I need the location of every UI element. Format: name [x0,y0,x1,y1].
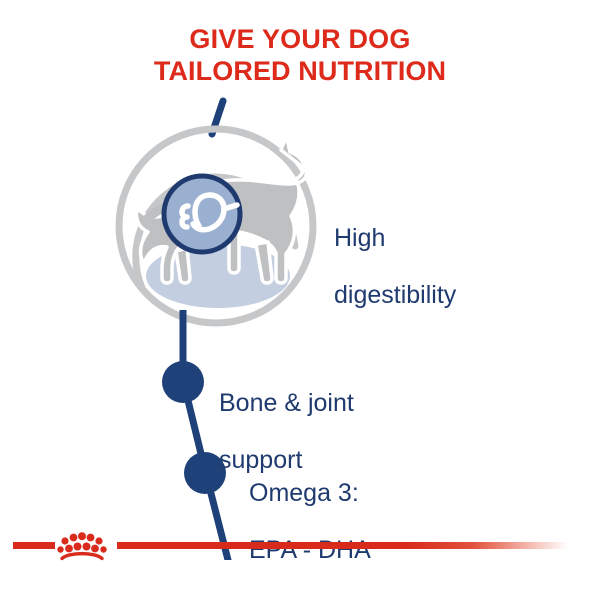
headline-line-1: GIVE YOUR DOG [0,24,600,56]
connector-node-1 [162,361,204,403]
brand-bar-right-segment [117,542,587,549]
feature-label-line-1: Omega 3: [249,479,371,508]
royal-crown-icon [52,524,112,564]
digestive-highlight-circle [164,176,240,252]
feature-label-line-2: digestibility [334,281,456,310]
headline-line-2: TAILORED NUTRITION [0,56,600,88]
feature-label-omega-3: Omega 3: EPA - DHA [249,450,371,593]
crown-arc [62,554,102,559]
feature-label-high-digestibility: High digestibility [334,195,456,338]
brand-bar [0,538,600,552]
poster-canvas: GIVE YOUR DOG TAILORED NUTRITION [0,0,600,600]
page-title: GIVE YOUR DOG TAILORED NUTRITION [0,24,600,88]
dog-digestive-health-icon [106,96,336,332]
feature-label-line-1: High [334,224,456,253]
brand-bar-left-segment [13,542,55,549]
feature-label-line-1: Bone & joint [219,389,354,418]
